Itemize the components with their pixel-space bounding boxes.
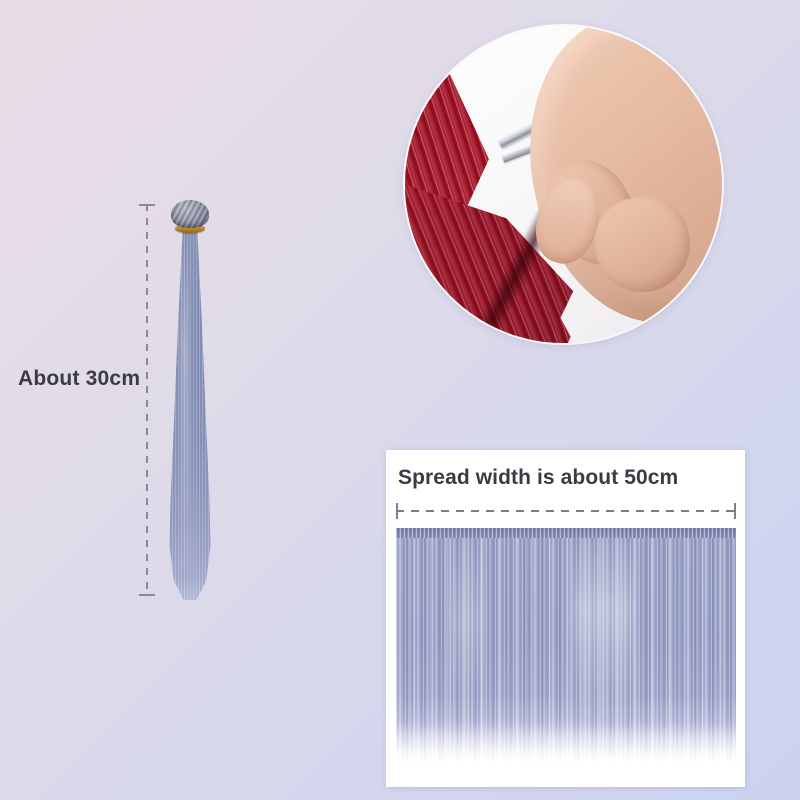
hair-strand-body (163, 214, 217, 600)
hair-weft-seam (396, 528, 736, 538)
measure-cap-left (396, 503, 398, 519)
hair-curtain-gloss (450, 528, 484, 735)
horizontal-measure-line (396, 510, 736, 512)
measure-cap-bottom (139, 594, 155, 596)
cutting-demo-scene (405, 26, 722, 343)
measure-cap-top (139, 204, 155, 206)
hair-strand (163, 214, 217, 600)
product-image-canvas: About 30cm Spread wid (0, 0, 800, 800)
hair-curtain-fibers (396, 528, 736, 763)
hair-strand-knot-tip (171, 200, 209, 228)
strand-length-figure: About 30cm (0, 0, 380, 800)
length-label: About 30cm (18, 367, 140, 391)
vertical-measure-line (146, 204, 148, 596)
hair-curtain-gloss (573, 528, 634, 744)
measure-cap-right (734, 503, 736, 519)
cutting-demo-photo (405, 26, 722, 343)
spread-width-title: Spread width is about 50cm (398, 466, 678, 490)
hair-curtain (396, 528, 736, 763)
spread-width-card: Spread width is about 50cm (386, 450, 745, 787)
